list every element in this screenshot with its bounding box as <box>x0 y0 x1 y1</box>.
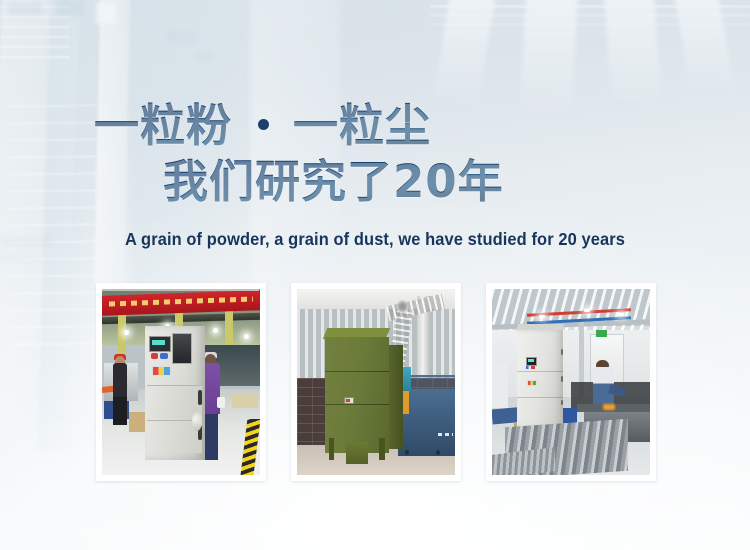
panel-button-red <box>151 353 159 359</box>
background-block <box>8 4 42 14</box>
scissor-lift-marking <box>438 433 453 436</box>
cabinet-inspection-port <box>192 412 202 431</box>
cabinet-handle <box>198 390 202 405</box>
cardboard-box <box>129 412 146 432</box>
banner-root: 一粒粉一粒尘 我们研究了20年 A grain of powder, a gra… <box>0 0 750 550</box>
dust-collector-cabinet <box>145 326 205 460</box>
collector-leg <box>379 438 385 460</box>
control-panel-display <box>149 336 170 353</box>
collector-nameplate <box>344 397 354 404</box>
dust-collector-cabinet <box>517 330 563 427</box>
cabinet-label <box>152 366 171 376</box>
light-ray <box>433 0 496 104</box>
headline-line-1: 一粒粉一粒尘 <box>0 98 750 154</box>
welding-spark <box>603 404 616 410</box>
light-ray <box>674 0 736 94</box>
duct-fan <box>397 300 408 313</box>
subtitle-text: A grain of powder, a grain of dust, we h… <box>23 229 728 250</box>
lift-wheel <box>436 450 441 455</box>
headline-line-1-part-1: 一粒粉 <box>94 99 232 152</box>
panel-button-blue <box>160 353 168 359</box>
photo-3 <box>492 289 650 475</box>
ceiling-grille <box>430 0 750 38</box>
light-ray <box>520 0 578 114</box>
headline-dot-separator <box>258 119 269 130</box>
cabinet-handle <box>561 349 563 355</box>
headline-block: 一粒粉一粒尘 我们研究了20年 <box>0 98 750 210</box>
worker-jeans <box>202 412 218 460</box>
panel-buttons <box>526 366 535 369</box>
cabinet-handle <box>561 376 563 382</box>
background-slat-lines-top <box>0 6 70 66</box>
photo-gallery <box>0 283 750 483</box>
background-block <box>196 52 212 62</box>
cabinet-label <box>527 380 537 386</box>
headline-line-2: 我们研究了20年 <box>0 154 750 210</box>
cabinet-handle <box>561 400 563 406</box>
ceiling-lamp <box>539 315 545 318</box>
control-screen <box>172 333 192 364</box>
gallery-item-2[interactable] <box>291 283 461 481</box>
collector-seam <box>325 371 388 372</box>
background-block <box>166 30 196 44</box>
gallery-item-3[interactable] <box>486 283 656 481</box>
light-ray <box>604 0 662 106</box>
headline-line-1-part-2: 一粒尘 <box>293 99 431 152</box>
ceiling-lamp <box>124 330 129 335</box>
cabinet-seam <box>517 397 563 398</box>
gallery-item-1[interactable] <box>96 283 266 481</box>
photo-1 <box>102 289 260 475</box>
ceiling-lamp <box>244 334 249 339</box>
ceiling-lamp <box>213 328 218 333</box>
control-panel-display <box>526 357 537 366</box>
photo-2 <box>297 289 455 475</box>
background-block <box>0 256 40 262</box>
collector-hopper <box>346 442 368 464</box>
worker-dark-uniform <box>113 363 127 424</box>
exit-sign <box>596 330 607 337</box>
collector-leg <box>329 438 335 460</box>
background-block <box>56 0 82 16</box>
lift-wheel <box>405 450 410 455</box>
green-dust-collector <box>325 337 388 452</box>
cabinet-seam <box>517 371 563 372</box>
blue-stool <box>562 408 578 423</box>
worker-glove <box>217 397 225 408</box>
cabinet-top <box>102 289 260 291</box>
background-block <box>96 2 116 24</box>
wooden-crate <box>232 393 259 408</box>
left-machine <box>492 363 508 408</box>
collector-seam <box>325 404 388 405</box>
